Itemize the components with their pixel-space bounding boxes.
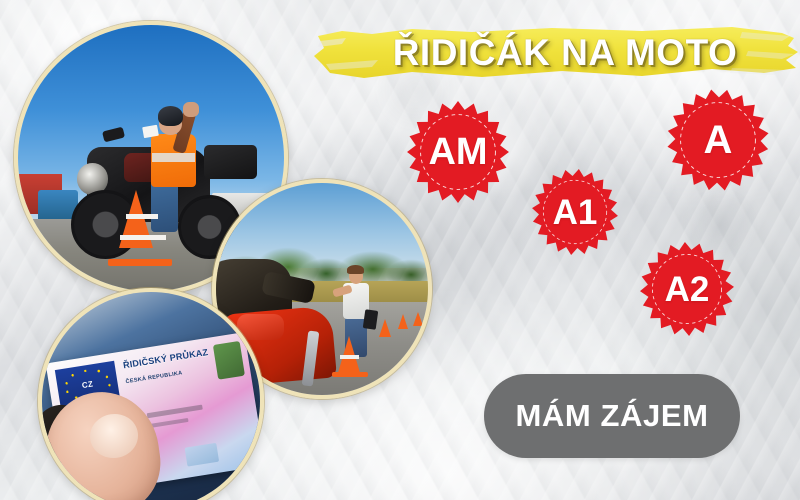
traffic-cone-band — [126, 214, 158, 219]
badge-label: AM — [406, 100, 510, 204]
rider-fist — [183, 102, 199, 117]
traffic-cone-band-2 — [120, 235, 165, 240]
traffic-cone-near-base — [332, 372, 368, 377]
photo-content-licence: CZ ŘIDIČSKÝ PRŮKAZ ČESKÁ REPUBLIKA — [42, 292, 260, 500]
rider-legs — [151, 179, 178, 232]
licence-category-badge-a1[interactable]: A1 — [531, 168, 619, 256]
badge-label: A1 — [531, 168, 619, 256]
licence-category-badge-a2[interactable]: A2 — [639, 241, 735, 337]
cta-button-mam-zajem[interactable]: MÁM ZÁJEM — [484, 374, 740, 458]
licence-subtitle: ČESKÁ REPUBLIKA — [125, 370, 183, 385]
vest-reflective-strip — [152, 153, 195, 162]
cta-button-label: MÁM ZÁJEM — [515, 398, 708, 434]
instructor-hair — [347, 265, 364, 275]
badge-label: A2 — [639, 241, 735, 337]
traffic-cone-base — [108, 259, 172, 266]
licence-hologram-icon — [213, 341, 244, 380]
licence-field-line-1 — [147, 404, 203, 417]
banner-ad-canvas: CZ ŘIDIČSKÝ PRŮKAZ ČESKÁ REPUBLIKA AM — [0, 0, 800, 500]
photo-czech-driving-licence-in-hand: CZ ŘIDIČSKÝ PRŮKAZ ČESKÁ REPUBLIKA — [38, 288, 264, 500]
traffic-cone-far-3 — [413, 312, 423, 326]
licence-title: ŘIDIČSKÝ PRŮKAZ — [122, 347, 209, 370]
title-banner: ŘIDIČÁK NA MOTO — [312, 24, 800, 82]
traffic-cone-near-band — [340, 355, 359, 359]
page-title: ŘIDIČÁK NA MOTO — [312, 24, 800, 82]
country-code-label: CZ — [81, 379, 94, 390]
rider-helmet — [158, 106, 183, 126]
licence-category-badge-a[interactable]: A — [666, 88, 770, 192]
traffic-cone-far-1 — [379, 319, 391, 337]
badge-label: A — [666, 88, 770, 192]
licence-chip — [185, 443, 220, 467]
motorcycle-topbox — [204, 145, 257, 180]
licence-category-badge-am[interactable]: AM — [406, 100, 510, 204]
traffic-cone-far-2 — [398, 314, 408, 329]
licence-field-line-2 — [149, 417, 189, 428]
